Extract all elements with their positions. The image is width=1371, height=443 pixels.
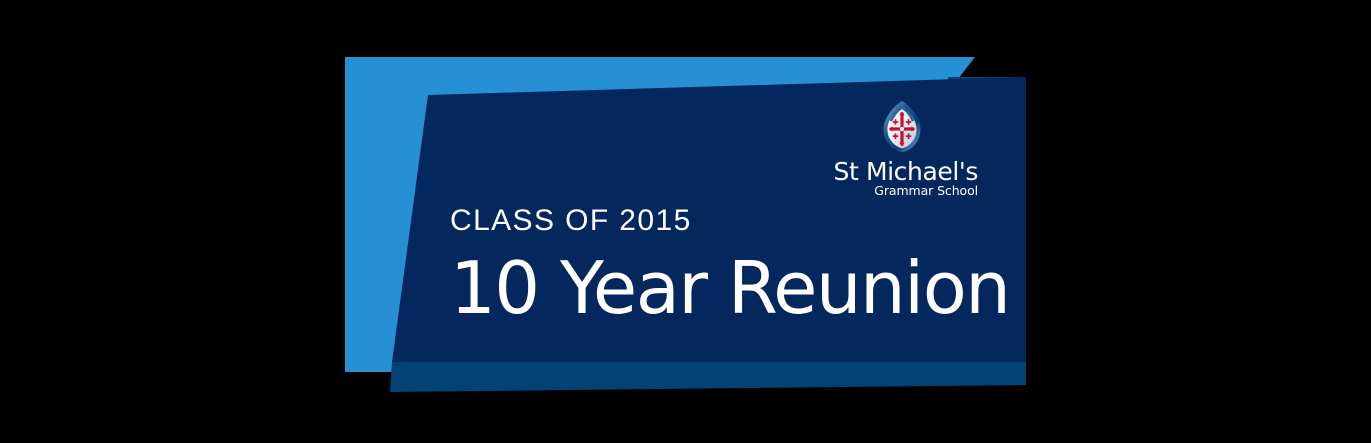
school-subtitle: Grammar School (826, 185, 978, 198)
headline-block: CLASS OF 2015 10 Year Reunion (450, 206, 1010, 324)
school-logo: St Michael's Grammar School (826, 100, 978, 198)
school-name: St Michael's (826, 159, 978, 184)
school-crest-icon (826, 100, 978, 157)
bottom-blue-band (390, 362, 1026, 392)
page-title: 10 Year Reunion (450, 252, 1010, 324)
eyebrow-text: CLASS OF 2015 (450, 206, 1010, 236)
reunion-banner: St Michael's Grammar School CLASS OF 201… (0, 0, 1371, 443)
